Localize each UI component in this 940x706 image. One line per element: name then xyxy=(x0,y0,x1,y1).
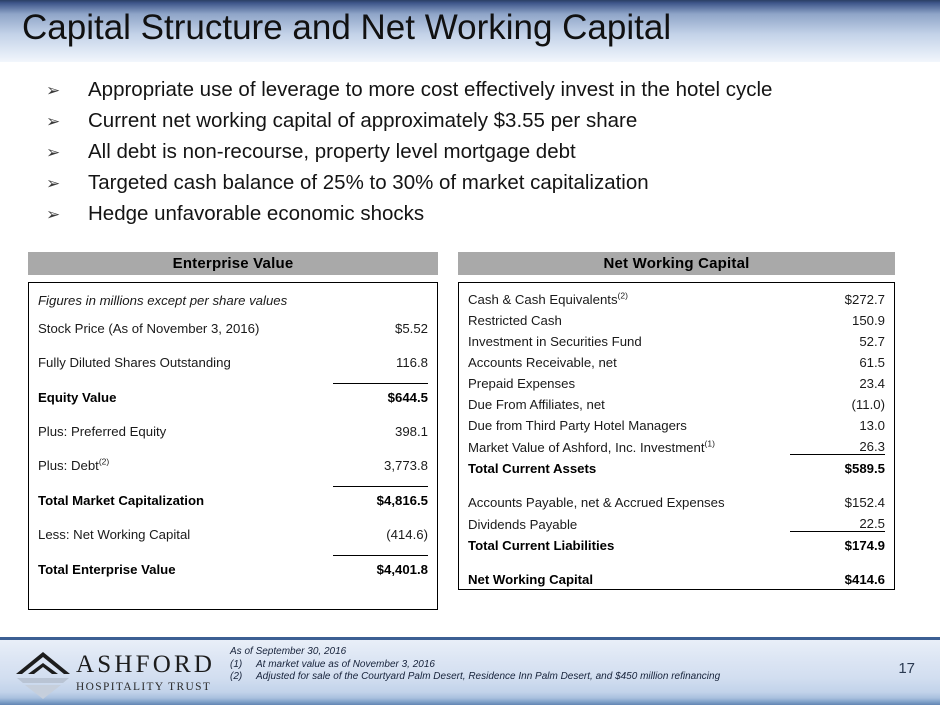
row-value: 3,773.8 xyxy=(333,452,428,473)
row-value: 150.9 xyxy=(790,307,885,328)
row-value: 23.4 xyxy=(790,370,885,391)
table-row: Accounts Receivable, net 61.5 xyxy=(468,349,885,370)
enterprise-value-panel: Enterprise Value Figures in millions exc… xyxy=(28,252,438,610)
ashford-logo-icon xyxy=(14,649,72,701)
row-value: (414.6) xyxy=(333,521,428,542)
bullet-text: Targeted cash balance of 25% to 30% of m… xyxy=(88,171,649,195)
row-value: $272.7 xyxy=(790,286,885,307)
table-row: Plus: Debt(2) 3,773.8 xyxy=(38,452,428,473)
row-label: Dividends Payable xyxy=(468,510,790,532)
table-row: Dividends Payable 22.5 xyxy=(468,510,885,532)
table-row: Less: Net Working Capital (414.6) xyxy=(38,521,428,542)
bullet-text: Hedge unfavorable economic shocks xyxy=(88,202,424,226)
row-value: 398.1 xyxy=(333,418,428,439)
net-working-capital-panel: Net Working Capital Cash & Cash Equivale… xyxy=(458,252,895,590)
row-value: $5.52 xyxy=(333,315,428,336)
chevron-bullet-icon: ➢ xyxy=(46,207,88,224)
table-row: Fully Diluted Shares Outstanding 116.8 xyxy=(38,349,428,370)
table-row: Accounts Payable, net & Accrued Expenses… xyxy=(468,489,885,510)
spacer-row xyxy=(38,370,428,384)
row-label: Net Working Capital xyxy=(468,566,790,587)
chevron-bullet-icon: ➢ xyxy=(46,114,88,131)
row-label: Investment in Securities Fund xyxy=(468,328,790,349)
row-value: (11.0) xyxy=(790,391,885,412)
table-row: Equity Value $644.5 xyxy=(38,384,428,406)
table-row: Plus: Preferred Equity 398.1 xyxy=(38,418,428,439)
footnote-1: (1) At market value as of November 3, 20… xyxy=(230,659,720,672)
footnote-2-text: Adjusted for sale of the Courtyard Palm … xyxy=(256,671,720,684)
row-value: 26.3 xyxy=(790,433,885,455)
footnote-as-of: As of September 30, 2016 xyxy=(230,646,720,659)
row-label-text: Plus: Debt xyxy=(38,458,99,473)
table-row: Total Enterprise Value $4,401.8 xyxy=(38,556,428,578)
row-value: $4,816.5 xyxy=(333,487,428,509)
chevron-bullet-icon: ➢ xyxy=(46,83,88,100)
table-row: Total Market Capitalization $4,816.5 xyxy=(38,487,428,509)
row-label: Plus: Preferred Equity xyxy=(38,418,333,439)
page-title: Capital Structure and Net Working Capita… xyxy=(22,8,671,48)
row-label-text: Market Value of Ashford, Inc. Investment xyxy=(468,440,705,455)
net-working-capital-table: Cash & Cash Equivalents(2) $272.7 Restri… xyxy=(468,286,885,587)
row-value: $4,401.8 xyxy=(333,556,428,578)
table-row: Investment in Securities Fund 52.7 xyxy=(468,328,885,349)
table-row: Due From Affiliates, net (11.0) xyxy=(468,391,885,412)
footnotes: As of September 30, 2016 (1) At market v… xyxy=(230,646,720,684)
spacer-row xyxy=(38,405,428,418)
bullet-list: ➢ Appropriate use of leverage to more co… xyxy=(46,78,916,233)
table-row: Market Value of Ashford, Inc. Investment… xyxy=(468,433,885,455)
spacer-row xyxy=(38,439,428,452)
row-label: Fully Diluted Shares Outstanding xyxy=(38,349,333,370)
footnote-marker: (2) xyxy=(99,457,109,467)
slide-footer: ASHFORD HOSPITALITY TRUST As of Septembe… xyxy=(0,637,940,705)
spacer-row xyxy=(38,542,428,556)
table-row: Cash & Cash Equivalents(2) $272.7 xyxy=(468,286,885,307)
row-label: Accounts Receivable, net xyxy=(468,349,790,370)
bullet-text: All debt is non-recourse, property level… xyxy=(88,140,576,164)
footnote-marker: (2) xyxy=(618,291,628,301)
list-item: ➢ Current net working capital of approxi… xyxy=(46,109,916,139)
spacer-row xyxy=(468,553,885,566)
row-label: Total Current Liabilities xyxy=(468,532,790,554)
figures-note: Figures in millions except per share val… xyxy=(38,287,428,308)
spacer-row xyxy=(38,473,428,487)
row-value: 22.5 xyxy=(790,510,885,532)
row-value: $589.5 xyxy=(790,455,885,477)
enterprise-value-header: Enterprise Value xyxy=(28,252,438,275)
row-label: Less: Net Working Capital xyxy=(38,521,333,542)
row-value: $152.4 xyxy=(790,489,885,510)
list-item: ➢ Appropriate use of leverage to more co… xyxy=(46,78,916,108)
table-row: Prepaid Expenses 23.4 xyxy=(468,370,885,391)
table-row: Total Current Liabilities $174.9 xyxy=(468,532,885,554)
footnote-1-text: At market value as of November 3, 2016 xyxy=(256,659,435,672)
table-row: Total Current Assets $589.5 xyxy=(468,455,885,477)
bullet-text: Appropriate use of leverage to more cost… xyxy=(88,78,772,102)
table-row: Figures in millions except per share val… xyxy=(38,287,428,308)
row-label: Plus: Debt(2) xyxy=(38,452,333,473)
footnote-1-number: (1) xyxy=(230,659,256,672)
footnote-2: (2) Adjusted for sale of the Courtyard P… xyxy=(230,671,720,684)
table-row: Net Working Capital $414.6 xyxy=(468,566,885,587)
table-row: Restricted Cash 150.9 xyxy=(468,307,885,328)
enterprise-value-table: Figures in millions except per share val… xyxy=(38,287,428,577)
row-label: Total Enterprise Value xyxy=(38,556,333,578)
slide-title-bar: Capital Structure and Net Working Capita… xyxy=(0,0,940,62)
row-value: 61.5 xyxy=(790,349,885,370)
spacer-row xyxy=(38,508,428,521)
brand-wordmark: ASHFORD HOSPITALITY TRUST xyxy=(76,652,215,693)
chevron-bullet-icon: ➢ xyxy=(46,176,88,193)
list-item: ➢ Hedge unfavorable economic shocks xyxy=(46,202,916,232)
spacer-row xyxy=(468,476,885,489)
row-label: Due from Third Party Hotel Managers xyxy=(468,412,790,433)
row-value: 52.7 xyxy=(790,328,885,349)
row-label: Accounts Payable, net & Accrued Expenses xyxy=(468,489,790,510)
row-value: $644.5 xyxy=(333,384,428,406)
spacer-row xyxy=(38,308,428,315)
row-label: Market Value of Ashford, Inc. Investment… xyxy=(468,433,790,455)
row-label-text: Cash & Cash Equivalents xyxy=(468,292,618,307)
row-value: 116.8 xyxy=(333,349,428,370)
row-label: Total Current Assets xyxy=(468,455,790,477)
net-working-capital-table-box: Cash & Cash Equivalents(2) $272.7 Restri… xyxy=(458,282,895,590)
footnote-2-number: (2) xyxy=(230,671,256,684)
row-label: Cash & Cash Equivalents(2) xyxy=(468,286,790,307)
page-number: 17 xyxy=(898,660,915,677)
row-label: Equity Value xyxy=(38,384,333,406)
row-value: 13.0 xyxy=(790,412,885,433)
footnote-as-of-text: As of September 30, 2016 xyxy=(230,646,346,659)
enterprise-value-table-box: Figures in millions except per share val… xyxy=(28,282,438,610)
row-label: Restricted Cash xyxy=(468,307,790,328)
brand-tagline: HOSPITALITY TRUST xyxy=(76,682,215,693)
row-value: $414.6 xyxy=(790,566,885,587)
row-label: Stock Price (As of November 3, 2016) xyxy=(38,315,333,336)
row-label: Due From Affiliates, net xyxy=(468,391,790,412)
spacer-row xyxy=(38,336,428,349)
row-value: $174.9 xyxy=(790,532,885,554)
list-item: ➢ All debt is non-recourse, property lev… xyxy=(46,140,916,170)
chevron-bullet-icon: ➢ xyxy=(46,145,88,162)
table-row: Due from Third Party Hotel Managers 13.0 xyxy=(468,412,885,433)
row-label: Prepaid Expenses xyxy=(468,370,790,391)
table-row: Stock Price (As of November 3, 2016) $5.… xyxy=(38,315,428,336)
row-label: Total Market Capitalization xyxy=(38,487,333,509)
net-working-capital-header: Net Working Capital xyxy=(458,252,895,275)
brand-name: ASHFORD xyxy=(76,652,215,677)
bullet-text: Current net working capital of approxima… xyxy=(88,109,637,133)
footnote-marker: (1) xyxy=(705,438,715,448)
list-item: ➢ Targeted cash balance of 25% to 30% of… xyxy=(46,171,916,201)
